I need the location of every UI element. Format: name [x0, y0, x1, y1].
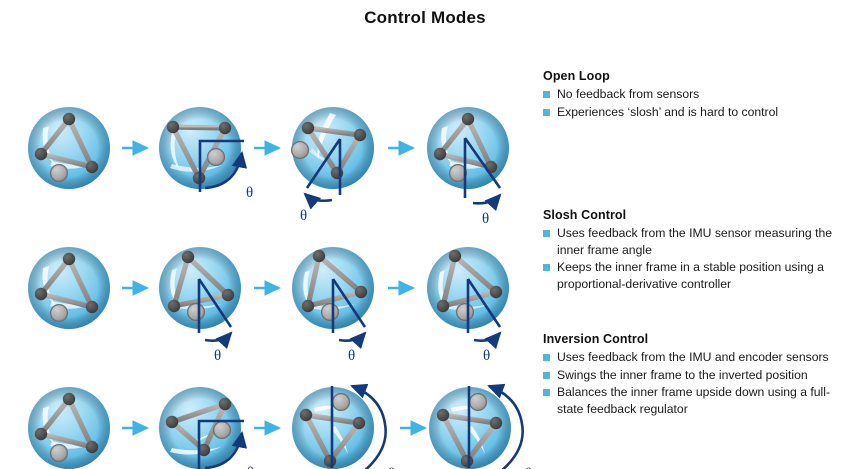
- theta-label: θ: [246, 185, 253, 201]
- section-title-open-loop: Open Loop: [543, 69, 850, 83]
- bullet-text: Uses feedback from the IMU sensor measur…: [557, 225, 850, 258]
- page-title: Control Modes: [0, 8, 850, 28]
- bullet-square-icon: [543, 389, 550, 396]
- open-loop-step-3: θ: [292, 107, 375, 224]
- section-inversion-control: Inversion Control Uses feedback from the…: [543, 332, 850, 418]
- theta-label: θ: [247, 465, 254, 469]
- theta-label: θ: [482, 211, 489, 227]
- slosh-step-3: θ: [292, 247, 375, 364]
- bullet-item: Experiences ‘slosh’ and is hard to contr…: [543, 104, 850, 121]
- slosh-step-2: θ: [159, 247, 242, 364]
- slosh-step-4: θ: [427, 247, 510, 364]
- bullet-text: Uses feedback from the IMU and encoder s…: [557, 349, 829, 366]
- bullet-text: Balances the inner frame upside down usi…: [557, 384, 850, 417]
- theta-label: θ: [214, 348, 221, 364]
- theta-label: θ: [483, 348, 490, 364]
- bullet-item: Uses feedback from the IMU and encoder s…: [543, 349, 850, 366]
- bullet-square-icon: [543, 372, 550, 379]
- bullet-square-icon: [543, 230, 550, 237]
- open-loop-step-1: [28, 107, 111, 189]
- section-title-inversion-control: Inversion Control: [543, 332, 850, 346]
- diagram-svg: θ: [0, 40, 545, 469]
- bullet-square-icon: [543, 264, 550, 271]
- bullet-item: Keeps the inner frame in a stable positi…: [543, 259, 850, 292]
- section-slosh-control: Slosh Control Uses feedback from the IMU…: [543, 208, 850, 293]
- bullet-item: Uses feedback from the IMU sensor measur…: [543, 225, 850, 258]
- bullet-text: Experiences ‘slosh’ and is hard to contr…: [557, 104, 778, 121]
- open-loop-step-4: θ: [427, 107, 510, 227]
- bullet-text: Swings the inner frame to the inverted p…: [557, 367, 808, 384]
- bullet-square-icon: [543, 109, 550, 116]
- row-inversion-control: θ: [28, 386, 532, 469]
- bullet-square-icon: [543, 91, 550, 98]
- section-open-loop: Open Loop No feedback from sensors Exper…: [543, 69, 850, 121]
- bullet-item: No feedback from sensors: [543, 86, 850, 103]
- descriptions-panel: Open Loop No feedback from sensors Exper…: [543, 40, 850, 469]
- bullet-square-icon: [543, 354, 550, 361]
- open-loop-step-2: θ: [159, 107, 253, 201]
- theta-label: θ: [300, 208, 307, 224]
- row-slosh-control: θ: [28, 247, 510, 364]
- inversion-step-2: θ: [159, 387, 254, 469]
- inversion-step-1: [28, 387, 111, 469]
- row-open-loop: θ: [28, 107, 510, 227]
- bullet-item: Balances the inner frame upside down usi…: [543, 384, 850, 417]
- inversion-step-3: θ: [292, 386, 395, 469]
- inversion-step-4: θ: [429, 386, 532, 469]
- theta-label: θ: [348, 348, 355, 364]
- bullet-item: Swings the inner frame to the inverted p…: [543, 367, 850, 384]
- bullet-text: Keeps the inner frame in a stable positi…: [557, 259, 850, 292]
- control-modes-diagram: θ: [0, 40, 545, 469]
- bullet-text: No feedback from sensors: [557, 86, 699, 103]
- section-title-slosh-control: Slosh Control: [543, 208, 850, 222]
- slosh-step-1: [28, 247, 111, 329]
